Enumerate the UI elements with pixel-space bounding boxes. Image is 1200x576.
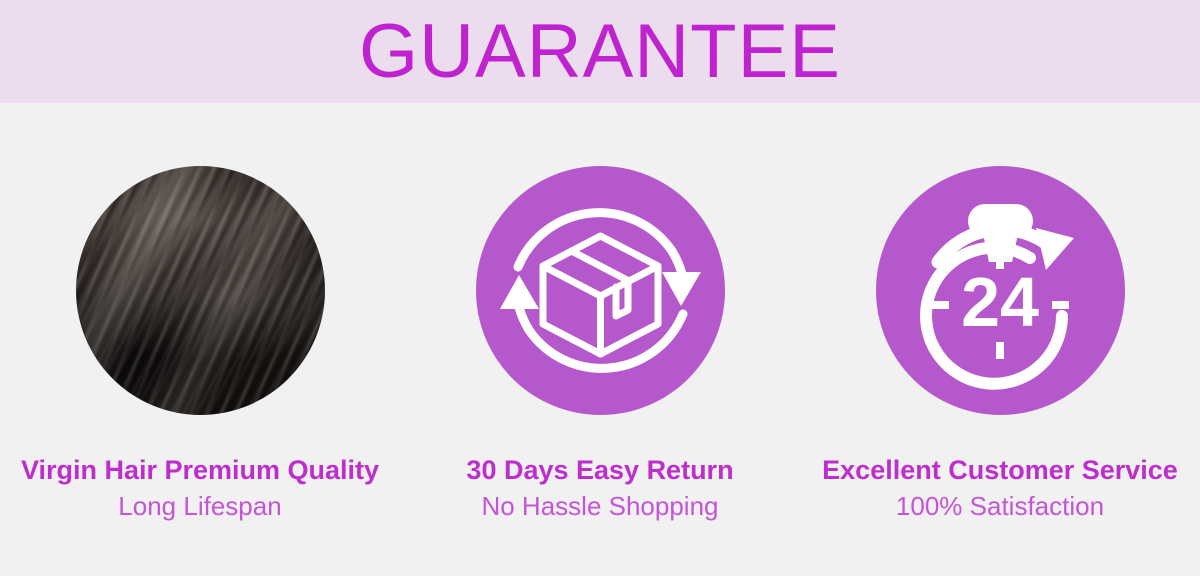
feature-item-customer-service: 24 Excellent Customer Service 100% Satis…: [800, 103, 1200, 523]
feature-caption: 30 Days Easy Return No Hassle Shopping: [466, 453, 733, 523]
guarantee-banner: GUARANTEE Virgin Hair Premium Quality Lo…: [0, 0, 1200, 576]
hair-sheen-overlay: [76, 166, 325, 415]
header-band: GUARANTEE: [0, 0, 1200, 103]
stopwatch-24-hour-icon: 24: [876, 166, 1125, 415]
feature-title: Virgin Hair Premium Quality: [21, 453, 379, 487]
service-icon-badge: 24: [876, 166, 1125, 415]
feature-subtitle: No Hassle Shopping: [466, 490, 733, 523]
stopwatch-hours-label: 24: [961, 263, 1039, 341]
feature-columns: Virgin Hair Premium Quality Long Lifespa…: [0, 103, 1200, 576]
feature-title: 30 Days Easy Return: [466, 453, 733, 487]
return-box-arrows-icon: [476, 166, 725, 415]
page-title: GUARANTEE: [0, 0, 1200, 103]
return-icon-badge: [476, 166, 725, 415]
feature-subtitle: 100% Satisfaction: [822, 490, 1178, 523]
feature-item-premium-quality: Virgin Hair Premium Quality Long Lifespa…: [0, 103, 400, 523]
feature-caption: Excellent Customer Service 100% Satisfac…: [822, 453, 1178, 523]
feature-subtitle: Long Lifespan: [21, 490, 379, 523]
feature-caption: Virgin Hair Premium Quality Long Lifespa…: [21, 453, 379, 523]
feature-item-easy-return: 30 Days Easy Return No Hassle Shopping: [400, 103, 800, 523]
dark-hair-photo: [76, 166, 325, 415]
feature-title: Excellent Customer Service: [822, 453, 1178, 487]
